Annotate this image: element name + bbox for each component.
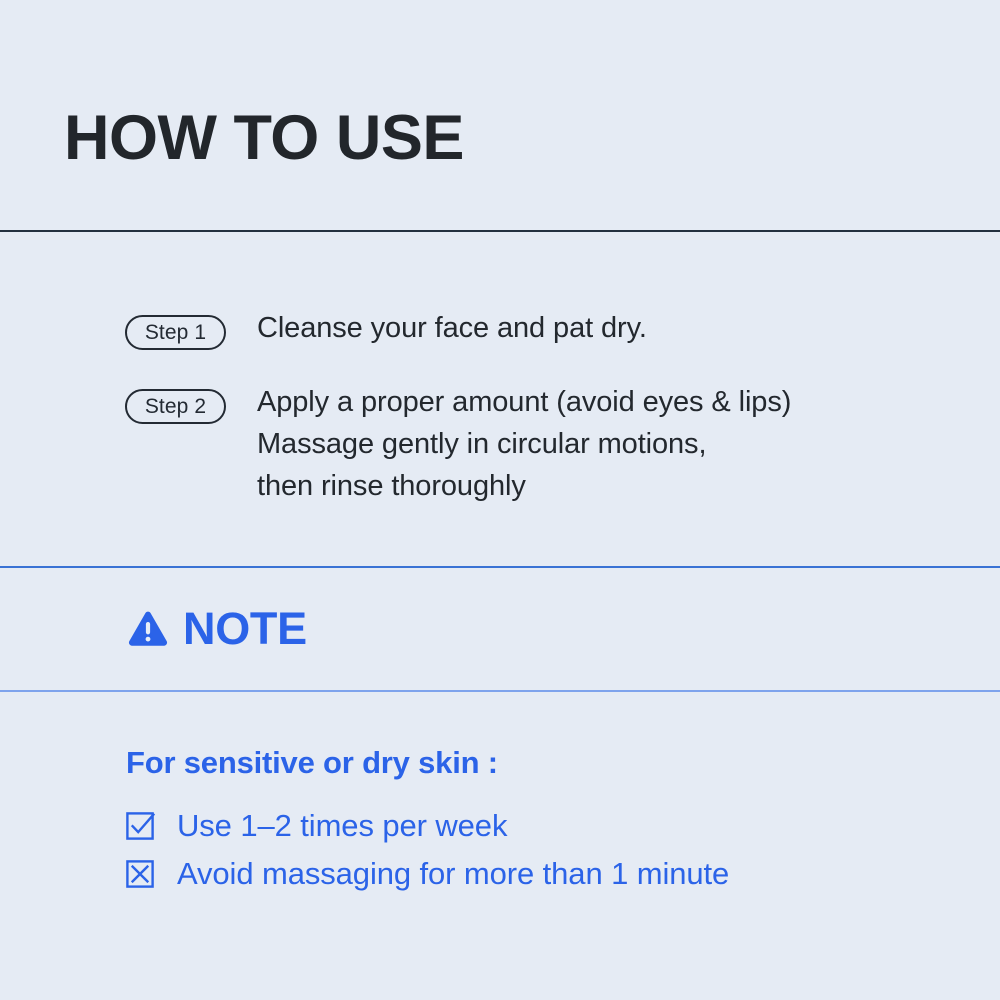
advice-title: For sensitive or dry skin : <box>126 745 498 781</box>
step-row: Step 1 Cleanse your face and pat dry. <box>125 313 647 350</box>
title-section: HOW TO USE <box>0 0 1000 231</box>
note-section: NOTE <box>0 568 1000 690</box>
warning-triangle-icon <box>127 608 169 650</box>
advice-text: Avoid massaging for more than 1 minute <box>177 857 729 891</box>
note-heading: NOTE <box>127 606 307 651</box>
how-to-use-panel: HOW TO USE Step 1 Cleanse your face and … <box>0 0 1000 1000</box>
step-badge-1: Step 1 <box>125 315 226 350</box>
step-badge-2: Step 2 <box>125 389 226 424</box>
step-text-2: Apply a proper amount (avoid eyes & lips… <box>257 381 791 507</box>
page-title: HOW TO USE <box>64 103 464 173</box>
advice-item-massage-limit: Avoid massaging for more than 1 minute <box>126 850 946 898</box>
steps-section: Step 1 Cleanse your face and pat dry. St… <box>0 231 1000 566</box>
step-text-1: Cleanse your face and pat dry. <box>257 307 647 349</box>
note-label: NOTE <box>183 606 307 651</box>
advice-item-use-frequency: Use 1–2 times per week <box>126 802 946 850</box>
step-row: Step 2 Apply a proper amount (avoid eyes… <box>125 387 791 507</box>
checkbox-checked-icon <box>126 812 154 840</box>
advice-text: Use 1–2 times per week <box>177 809 507 843</box>
advice-section: For sensitive or dry skin : Use 1–2 time… <box>0 692 1000 1000</box>
checkbox-crossed-icon <box>126 860 154 888</box>
advice-list: Use 1–2 times per week Avoid massaging f… <box>126 802 946 898</box>
